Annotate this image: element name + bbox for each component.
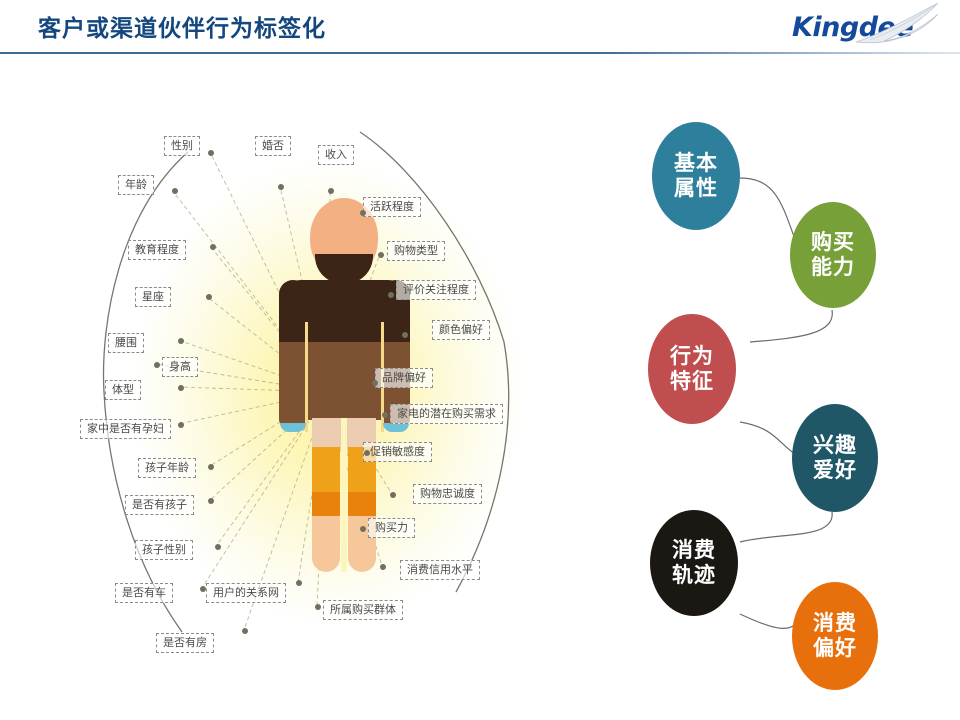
tag-connector-dot xyxy=(360,210,366,216)
tag-label: 教育程度 xyxy=(128,240,186,260)
page-title: 客户或渠道伙伴行为标签化 xyxy=(38,9,326,43)
header-divider xyxy=(0,52,960,54)
tag-connector-dot xyxy=(178,385,184,391)
tag-connector-dot xyxy=(328,188,334,194)
tag-label: 星座 xyxy=(135,287,171,307)
tag-label: 腰围 xyxy=(108,333,144,353)
tag-connector-dot xyxy=(208,150,214,156)
category-oval-line2: 能力 xyxy=(811,255,855,280)
category-oval-line1: 基本 xyxy=(674,151,718,176)
tag-connector-dot xyxy=(388,292,394,298)
tag-label: 是否有孩子 xyxy=(125,495,194,515)
tag-label: 孩子年龄 xyxy=(138,458,196,478)
tag-connector-dot xyxy=(278,184,284,190)
tag-connector-dot xyxy=(172,188,178,194)
category-oval-label: 基本属性 xyxy=(674,151,718,201)
tag-label: 年龄 xyxy=(118,175,154,195)
tag-label: 婚否 xyxy=(255,136,291,156)
category-oval-line1: 消费 xyxy=(813,611,857,636)
category-oval-line1: 购买 xyxy=(811,230,855,255)
tag-connector-dot xyxy=(315,604,321,610)
category-oval-line1: 消费 xyxy=(672,538,716,563)
page-header: 客户或渠道伙伴行为标签化 Kingdee xyxy=(0,0,960,52)
tag-label: 评价关注程度 xyxy=(396,280,476,300)
tag-label: 所属购买群体 xyxy=(323,600,403,620)
category-oval-line1: 兴趣 xyxy=(813,433,857,458)
tag-label: 体型 xyxy=(105,380,141,400)
logo-swoosh-icon xyxy=(854,2,940,48)
tag-connector-dot xyxy=(208,498,214,504)
tag-label: 家电的潜在购买需求 xyxy=(390,404,503,424)
category-oval-line1: 行为 xyxy=(670,344,714,369)
category-oval-label: 行为特征 xyxy=(670,344,714,394)
category-oval-line2: 偏好 xyxy=(813,636,857,661)
category-oval[interactable]: 行为特征 xyxy=(648,314,736,424)
category-oval[interactable]: 消费偏好 xyxy=(792,582,878,690)
category-oval-label: 兴趣爱好 xyxy=(813,433,857,483)
tag-connector-dot xyxy=(402,332,408,338)
category-ovals: 基本属性购买能力行为特征兴趣爱好消费轨迹消费偏好 xyxy=(600,92,960,692)
tag-connector-dot xyxy=(178,338,184,344)
tag-label: 购买力 xyxy=(368,518,415,538)
figure-leg-gap xyxy=(341,418,347,572)
tag-label: 消费信用水平 xyxy=(400,560,480,580)
figure-sleeve-left xyxy=(305,322,308,432)
category-oval[interactable]: 消费轨迹 xyxy=(650,510,738,616)
persona-illustration: 性别年龄教育程度星座腰围身高体型家中是否有孕妇孩子年龄是否有孩子孩子性别是否有车… xyxy=(60,92,600,682)
tag-connector-dot xyxy=(360,526,366,532)
category-oval[interactable]: 兴趣爱好 xyxy=(792,404,878,512)
tag-label: 身高 xyxy=(162,357,198,377)
figure-torso-upper xyxy=(279,280,410,348)
tag-label: 购物类型 xyxy=(387,241,445,261)
tag-label: 孩子性别 xyxy=(135,540,193,560)
category-oval-label: 购买能力 xyxy=(811,230,855,280)
tag-connector-dot xyxy=(382,412,388,418)
tag-label: 性别 xyxy=(164,136,200,156)
tag-connector-dot xyxy=(206,294,212,300)
tag-label: 颜色偏好 xyxy=(432,320,490,340)
tag-label: 活跃程度 xyxy=(363,197,421,217)
category-oval-line2: 轨迹 xyxy=(672,563,716,588)
tag-connector-dot xyxy=(296,580,302,586)
tag-connector-dot xyxy=(178,422,184,428)
tag-connector-dot xyxy=(390,492,396,498)
category-oval-line2: 属性 xyxy=(674,176,718,201)
tag-connector-dot xyxy=(154,362,160,368)
tag-connector-dot xyxy=(372,380,378,386)
tag-connector-dot xyxy=(242,628,248,634)
tag-connector-dot xyxy=(208,464,214,470)
category-oval-label: 消费偏好 xyxy=(813,611,857,661)
tag-label: 家中是否有孕妇 xyxy=(80,419,171,439)
tag-label: 用户的关系网 xyxy=(206,583,286,603)
tag-connector-dot xyxy=(364,450,370,456)
tag-label: 购物忠诚度 xyxy=(413,484,482,504)
tag-connector-dot xyxy=(215,544,221,550)
figure-shin-left xyxy=(312,516,340,572)
tag-connector-dot xyxy=(378,252,384,258)
category-oval-line2: 特征 xyxy=(670,369,714,394)
category-oval-label: 消费轨迹 xyxy=(672,538,716,588)
category-oval[interactable]: 购买能力 xyxy=(790,202,876,308)
category-oval[interactable]: 基本属性 xyxy=(652,122,740,230)
tag-label: 是否有车 xyxy=(115,583,173,603)
tag-label: 收入 xyxy=(318,145,354,165)
tag-connector-dot xyxy=(210,244,216,250)
tag-connector-dot xyxy=(380,564,386,570)
tag-label: 是否有房 xyxy=(156,633,214,653)
category-oval-line2: 爱好 xyxy=(813,458,857,483)
tag-label: 品牌偏好 xyxy=(375,368,433,388)
tag-label: 促销敏感度 xyxy=(363,442,432,462)
kingdee-logo: Kingdee xyxy=(758,6,938,50)
